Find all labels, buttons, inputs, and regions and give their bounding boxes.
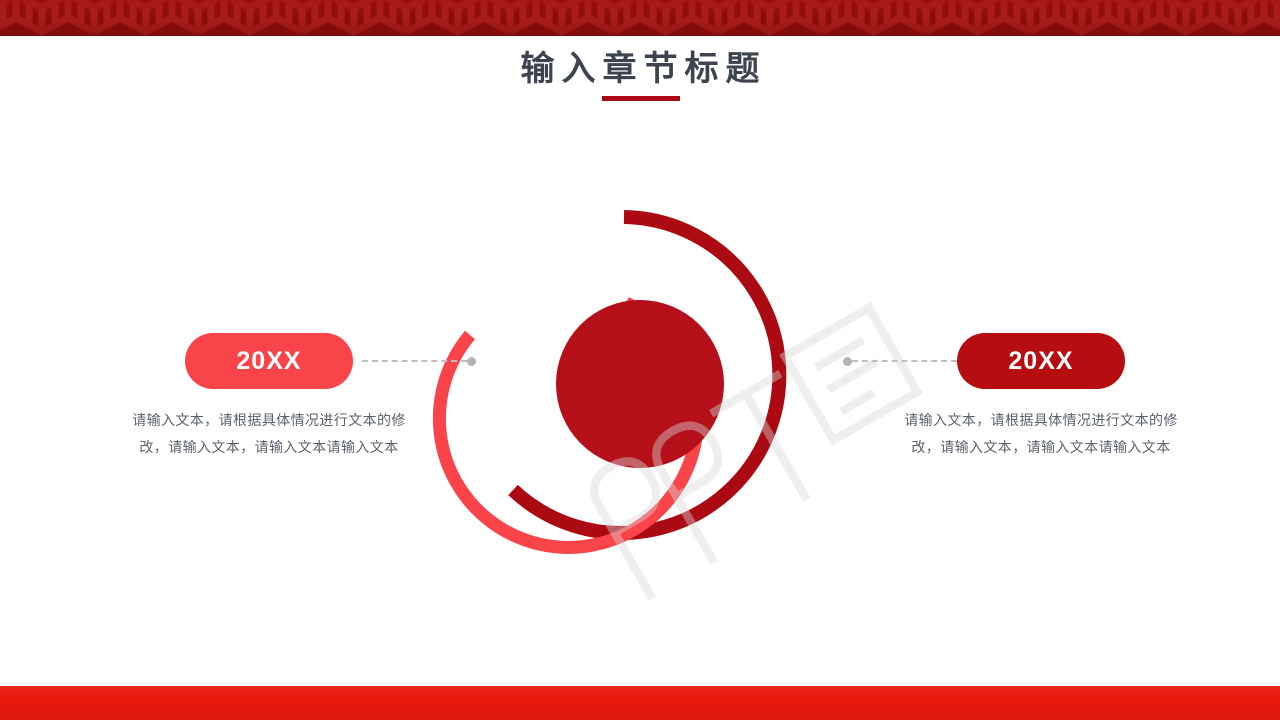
center-disc (556, 300, 724, 468)
year-badge-right[interactable]: 20XX (957, 333, 1125, 389)
connector-right-dot (843, 357, 852, 366)
concentric-arcs (440, 175, 840, 575)
connector-left (362, 355, 476, 367)
center-circle-graphic (440, 175, 840, 575)
year-badge-left-label: 20XX (236, 347, 301, 376)
page-title-wrap: 输入章节标题 (0, 48, 1280, 91)
title-underline (602, 96, 680, 101)
bottom-band-sheen (0, 686, 1280, 720)
year-badge-left[interactable]: 20XX (185, 333, 353, 389)
connector-right-dashline (852, 360, 957, 362)
year-badge-right-label: 20XX (1008, 347, 1073, 376)
top-decorative-band (0, 0, 1280, 36)
description-left: 请输入文本，请根据具体情况进行文本的修改，请输入文本，请输入文本请输入文本 (124, 407, 414, 461)
chinese-lattice-pattern (0, 0, 1280, 36)
connector-right (843, 355, 957, 367)
description-right: 请输入文本，请根据具体情况进行文本的修改，请输入文本，请输入文本请输入文本 (896, 407, 1186, 461)
connector-left-dot (467, 357, 476, 366)
bottom-decorative-band (0, 686, 1280, 720)
connector-left-dashline (362, 360, 467, 362)
slide-canvas: 输入章节标题 (0, 0, 1280, 720)
page-title: 输入章节标题 (514, 48, 767, 91)
